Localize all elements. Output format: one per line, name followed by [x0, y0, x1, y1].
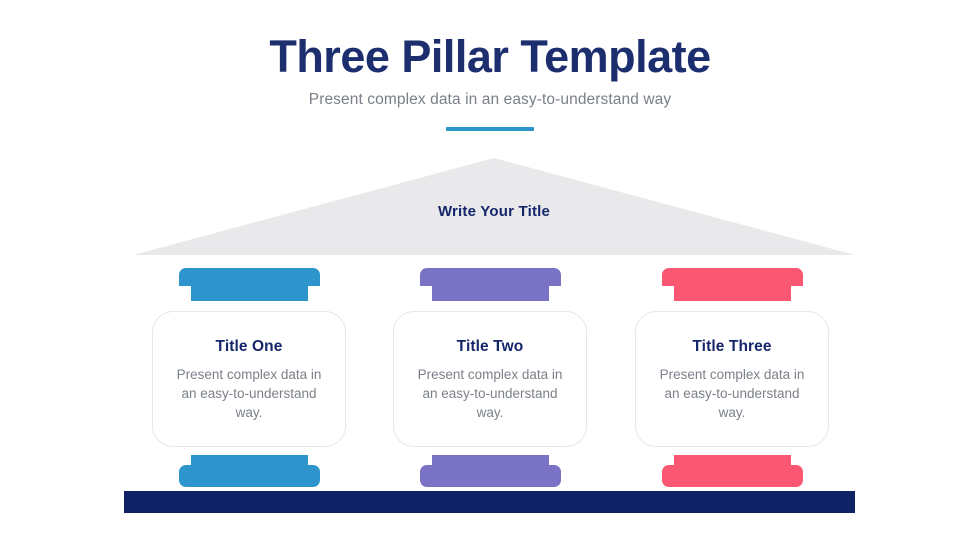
pillar-one-title: Title One [216, 338, 283, 356]
pillar-three-text: Present complex data in an easy-to-under… [652, 365, 812, 422]
header: Three Pillar Template Present complex da… [0, 0, 980, 131]
pillar-three-base-plinth [662, 465, 803, 487]
pillar-two[interactable]: Title Two Present complex data in an eas… [366, 268, 614, 488]
pillar-one-text: Present complex data in an easy-to-under… [169, 365, 329, 422]
accent-divider [446, 127, 534, 131]
pillar-one[interactable]: Title One Present complex data in an eas… [125, 268, 373, 488]
page-subtitle: Present complex data in an easy-to-under… [0, 80, 980, 109]
page-title: Three Pillar Template [0, 0, 980, 80]
pillar-three-capital-shaft [674, 285, 791, 301]
pillar-two-capital-abacus [420, 268, 561, 286]
pillar-two-base-plinth [420, 465, 561, 487]
pillar-one-card[interactable]: Title One Present complex data in an eas… [152, 311, 346, 447]
pillar-two-card[interactable]: Title Two Present complex data in an eas… [393, 311, 587, 447]
pillar-three-title: Title Three [692, 338, 771, 356]
slide-canvas: Three Pillar Template Present complex da… [0, 0, 980, 551]
foundation-bar [124, 491, 855, 513]
pillars-group: Title One Present complex data in an eas… [0, 268, 980, 488]
pillar-two-capital-shaft [432, 285, 549, 301]
pillar-three[interactable]: Title Three Present complex data in an e… [608, 268, 856, 488]
pillar-one-capital-abacus [179, 268, 320, 286]
pillar-three-card[interactable]: Title Three Present complex data in an e… [635, 311, 829, 447]
pediment-title: Write Your Title [133, 203, 855, 220]
pillar-three-capital-abacus [662, 268, 803, 286]
pillar-two-text: Present complex data in an easy-to-under… [410, 365, 570, 422]
pillar-two-title: Title Two [457, 338, 524, 356]
pillar-one-capital-shaft [191, 285, 308, 301]
pillar-one-base-plinth [179, 465, 320, 487]
pediment: Write Your Title [133, 158, 855, 255]
